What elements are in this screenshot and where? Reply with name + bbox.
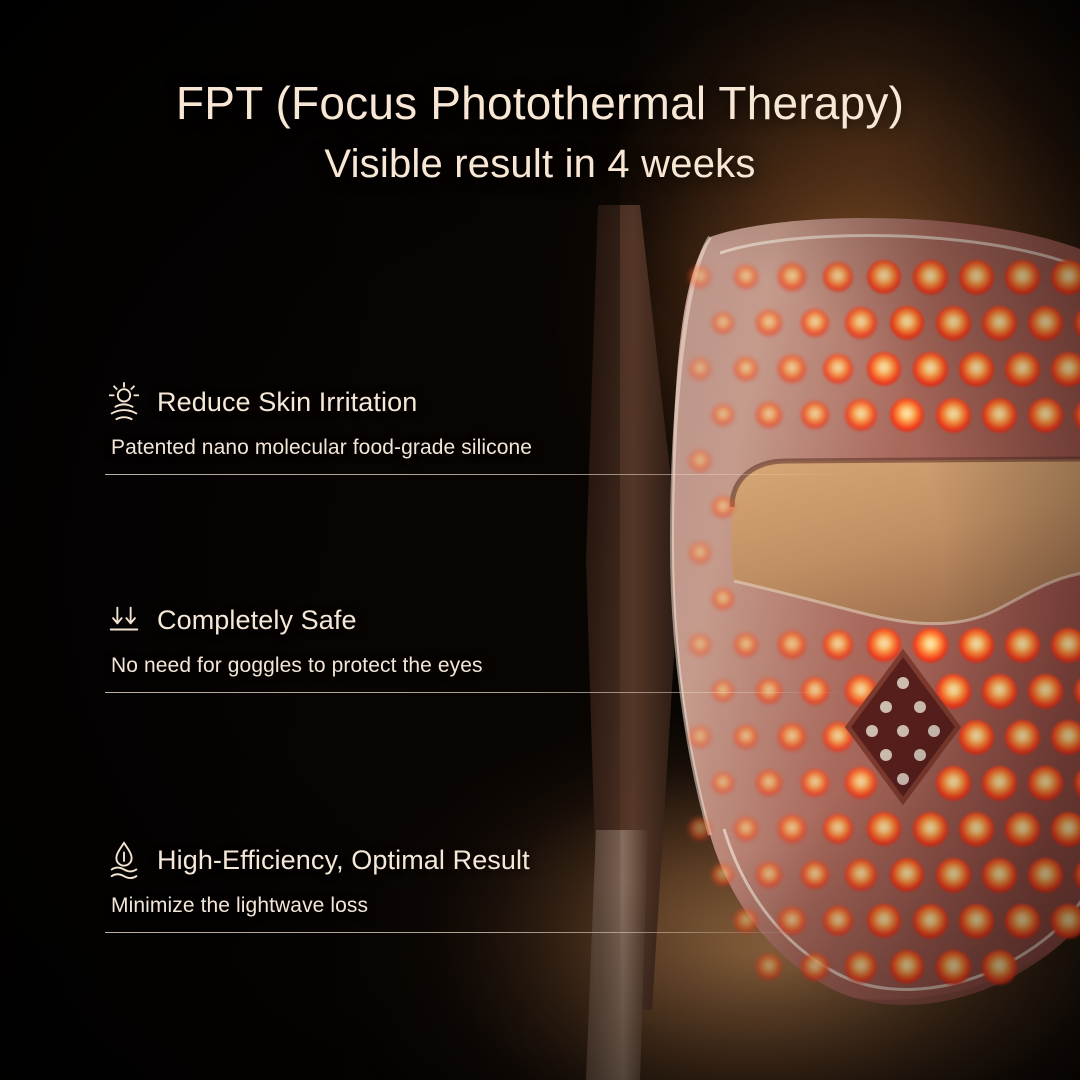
feature-heading: High-Efficiency, Optimal Result [105, 840, 1005, 880]
feature-heading: Completely Safe [105, 600, 1005, 640]
sun-rays-icon [105, 382, 143, 422]
product-marketing-image: FPT (Focus Photothermal Therapy) Visible… [0, 0, 1080, 1080]
feature-subtitle: Minimize the lightwave loss [111, 894, 1005, 918]
feature-subtitle: No need for goggles to protect the eyes [111, 654, 1005, 678]
headline-block: FPT (Focus Photothermal Therapy) Visible… [0, 78, 1080, 187]
feature-block-reduce-skin-irritation: Reduce Skin Irritation Patented nano mol… [105, 382, 1005, 475]
headline-secondary: Visible result in 4 weeks [0, 142, 1080, 187]
feature-divider [105, 474, 850, 475]
feature-title: High-Efficiency, Optimal Result [157, 845, 530, 876]
feature-divider [105, 692, 850, 693]
droplet-waves-icon [105, 840, 143, 880]
feature-block-high-efficiency: High-Efficiency, Optimal Result Minimize… [105, 840, 1005, 933]
feature-title: Reduce Skin Irritation [157, 387, 417, 418]
headline-primary: FPT (Focus Photothermal Therapy) [0, 78, 1080, 130]
down-arrows-baseline-icon [105, 600, 143, 640]
feature-subtitle: Patented nano molecular food-grade silic… [111, 436, 1005, 460]
feature-title: Completely Safe [157, 605, 357, 636]
feature-block-completely-safe: Completely Safe No need for goggles to p… [105, 600, 1005, 693]
feature-divider [105, 932, 805, 933]
feature-heading: Reduce Skin Irritation [105, 382, 1005, 422]
